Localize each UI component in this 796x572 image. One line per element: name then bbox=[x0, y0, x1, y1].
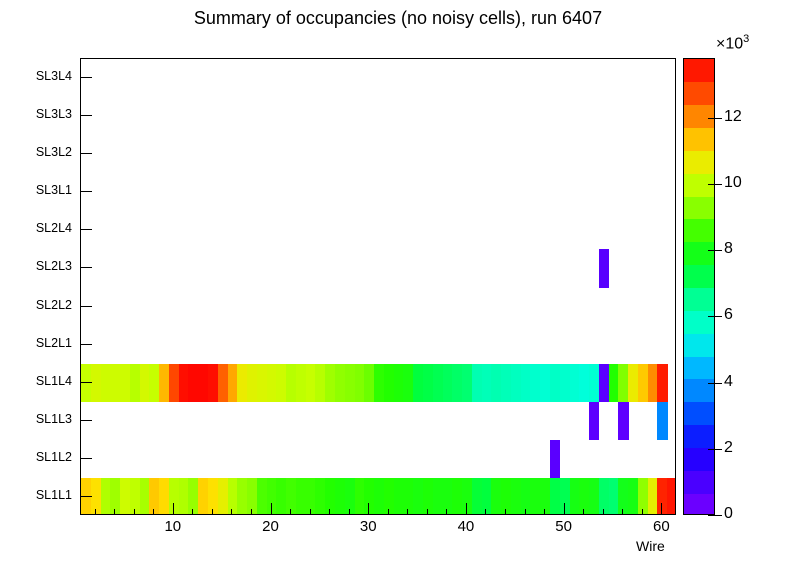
heatmap-cell bbox=[101, 478, 111, 514]
heatmap-cell bbox=[315, 478, 325, 514]
color-scale-band bbox=[684, 242, 714, 265]
heatmap-cell bbox=[179, 364, 189, 403]
x-axis-minor-tick bbox=[310, 509, 311, 515]
x-axis-minor-tick bbox=[134, 509, 135, 515]
heatmap-cell bbox=[374, 364, 384, 403]
heatmap-cell bbox=[179, 478, 189, 514]
heatmap-cell bbox=[149, 478, 159, 514]
heatmap-cell bbox=[413, 364, 423, 403]
heatmap-cell bbox=[521, 364, 531, 403]
y-axis-tick bbox=[80, 420, 92, 421]
y-axis-tick bbox=[80, 344, 92, 345]
heatmap-cell bbox=[550, 440, 560, 479]
x-axis-tick bbox=[368, 503, 369, 515]
heatmap-cell bbox=[599, 478, 609, 514]
heatmap-cell bbox=[462, 478, 472, 514]
color-scale-label-6: 6 bbox=[724, 306, 733, 324]
color-scale-label-2: 2 bbox=[724, 439, 733, 457]
heatmap-cell bbox=[325, 478, 335, 514]
heatmap-cell bbox=[81, 364, 91, 403]
x-axis-minor-tick bbox=[251, 509, 252, 515]
color-scale-bar bbox=[683, 58, 715, 515]
color-scale-label-10: 10 bbox=[724, 174, 742, 192]
heatmap-cell bbox=[364, 364, 374, 403]
color-scale-band bbox=[684, 105, 714, 128]
heatmap-cell bbox=[433, 364, 443, 403]
x-axis-tick bbox=[661, 503, 662, 515]
y-axis-label-sl3l2: SL3L2 bbox=[0, 145, 72, 159]
color-scale-band bbox=[684, 310, 714, 333]
heatmap-cell bbox=[403, 364, 413, 403]
heatmap-cell bbox=[198, 364, 208, 403]
heatmap-cell bbox=[657, 478, 667, 514]
heatmap-cell bbox=[120, 364, 130, 403]
plot-area bbox=[80, 58, 676, 515]
x-axis-tick bbox=[271, 503, 272, 515]
heatmap-cell bbox=[169, 478, 179, 514]
x-axis-tick bbox=[564, 503, 565, 515]
heatmap-cell bbox=[110, 478, 120, 514]
y-axis-tick bbox=[80, 382, 92, 383]
y-axis-label-sl1l1: SL1L1 bbox=[0, 488, 72, 502]
y-axis-label-sl2l3: SL2L3 bbox=[0, 259, 72, 273]
y-axis-tick bbox=[80, 153, 92, 154]
heatmap-cell bbox=[589, 364, 599, 403]
color-scale-tick bbox=[708, 316, 722, 317]
color-scale-band bbox=[684, 128, 714, 151]
heatmap-cell bbox=[648, 478, 658, 514]
color-scale-band bbox=[684, 173, 714, 196]
heatmap-cell bbox=[530, 478, 540, 514]
heatmap-cell bbox=[628, 478, 638, 514]
color-scale-tick bbox=[708, 118, 722, 119]
heatmap-cell bbox=[423, 478, 433, 514]
page-title: Summary of occupancies (no noisy cells),… bbox=[0, 8, 796, 29]
heatmap-cell bbox=[618, 364, 628, 403]
heatmap-cell bbox=[511, 364, 521, 403]
color-scale-band bbox=[684, 470, 714, 493]
heatmap-cell bbox=[91, 364, 101, 403]
x-axis-minor-tick bbox=[485, 509, 486, 515]
color-scale-tick bbox=[708, 515, 722, 516]
heatmap-cell bbox=[218, 478, 228, 514]
heatmap-cell bbox=[609, 364, 619, 403]
heatmap-cell bbox=[657, 402, 667, 441]
heatmap-cell bbox=[306, 478, 316, 514]
heatmap-cell bbox=[550, 478, 560, 514]
heatmap-cell bbox=[247, 478, 257, 514]
heatmap-cell bbox=[218, 364, 228, 403]
heatmap-cell bbox=[638, 478, 648, 514]
heatmap-cell bbox=[374, 478, 384, 514]
heatmap-cell bbox=[140, 364, 150, 403]
color-scale-tick bbox=[708, 184, 722, 185]
color-scale-band bbox=[684, 493, 714, 515]
heatmap-cell bbox=[228, 364, 238, 403]
y-axis-tick bbox=[80, 306, 92, 307]
heatmap-cell bbox=[472, 478, 482, 514]
heatmap-cell bbox=[560, 478, 570, 514]
color-scale-band bbox=[684, 219, 714, 242]
heatmap-cell bbox=[394, 478, 404, 514]
heatmap-cell bbox=[208, 478, 218, 514]
heatmap-cell bbox=[452, 478, 462, 514]
heatmap-cell bbox=[540, 478, 550, 514]
x-axis-minor-tick bbox=[642, 509, 643, 515]
color-scale-label-0: 0 bbox=[724, 505, 733, 523]
x-axis-tick bbox=[173, 503, 174, 515]
heatmap-cell bbox=[472, 364, 482, 403]
heatmap-cell bbox=[501, 364, 511, 403]
heatmap-cell bbox=[579, 364, 589, 403]
color-scale-band bbox=[684, 82, 714, 105]
heatmap-cell bbox=[276, 478, 286, 514]
y-axis-label-sl2l2: SL2L2 bbox=[0, 298, 72, 312]
color-scale-label-4: 4 bbox=[724, 373, 733, 391]
color-scale-label-12: 12 bbox=[724, 108, 742, 126]
x-axis-minor-tick bbox=[446, 509, 447, 515]
heatmap-cell bbox=[345, 364, 355, 403]
heatmap-cell bbox=[335, 478, 345, 514]
heatmap-cell bbox=[384, 478, 394, 514]
heatmap-cell bbox=[433, 478, 443, 514]
heatmap-cell bbox=[482, 364, 492, 403]
heatmap-cell bbox=[315, 364, 325, 403]
x-axis-minor-tick bbox=[525, 509, 526, 515]
heatmap-cell bbox=[462, 364, 472, 403]
heatmap-cell bbox=[325, 364, 335, 403]
color-scale-band bbox=[684, 447, 714, 470]
heatmap-cell bbox=[521, 478, 531, 514]
heatmap-cell bbox=[159, 478, 169, 514]
color-scale-band bbox=[684, 333, 714, 356]
y-axis-label-sl1l2: SL1L2 bbox=[0, 450, 72, 464]
heatmap-cell bbox=[491, 478, 501, 514]
heatmap-cell bbox=[403, 478, 413, 514]
heatmap-cell bbox=[237, 478, 247, 514]
x-axis-label-30: 30 bbox=[343, 518, 393, 535]
heatmap-cell bbox=[91, 478, 101, 514]
heatmap-cell bbox=[560, 364, 570, 403]
heatmap-cell bbox=[394, 364, 404, 403]
color-scale-band bbox=[684, 402, 714, 425]
heatmap-cell bbox=[188, 478, 198, 514]
y-axis-label-sl2l1: SL2L1 bbox=[0, 336, 72, 350]
x-axis-minor-tick bbox=[192, 509, 193, 515]
heatmap-cell bbox=[296, 478, 306, 514]
heatmap-cell bbox=[198, 478, 208, 514]
y-axis-tick bbox=[80, 77, 92, 78]
color-scale-exponent-base: ×10 bbox=[716, 35, 743, 52]
x-axis-minor-tick bbox=[290, 509, 291, 515]
x-axis-label-10: 10 bbox=[148, 518, 198, 535]
heatmap-cell bbox=[501, 478, 511, 514]
x-axis-minor-tick bbox=[349, 509, 350, 515]
heatmap-cell bbox=[267, 364, 277, 403]
y-axis-tick bbox=[80, 115, 92, 116]
heatmap-cell bbox=[355, 478, 365, 514]
color-scale-band bbox=[684, 425, 714, 448]
heatmap-cell bbox=[530, 364, 540, 403]
y-axis-label-sl2l4: SL2L4 bbox=[0, 221, 72, 235]
color-scale-band bbox=[684, 150, 714, 173]
x-axis-minor-tick bbox=[114, 509, 115, 515]
heatmap-cell bbox=[306, 364, 316, 403]
heatmap-cell bbox=[570, 478, 580, 514]
x-axis-label-40: 40 bbox=[441, 518, 491, 535]
x-axis-label-20: 20 bbox=[246, 518, 296, 535]
heatmap-cell bbox=[589, 402, 599, 441]
heatmap-cell bbox=[452, 364, 462, 403]
color-scale-tick bbox=[708, 250, 722, 251]
color-scale-exponent: ×103 bbox=[716, 33, 749, 53]
heatmap-cell bbox=[638, 364, 648, 403]
heatmap-cell bbox=[355, 364, 365, 403]
heatmap-cell bbox=[335, 364, 345, 403]
x-axis-label-50: 50 bbox=[539, 518, 589, 535]
heatmap-cell bbox=[628, 364, 638, 403]
heatmap-cell bbox=[443, 478, 453, 514]
x-axis-minor-tick bbox=[427, 509, 428, 515]
heatmap-cell bbox=[159, 364, 169, 403]
heatmap-cell bbox=[648, 364, 658, 403]
heatmap-cell bbox=[609, 478, 619, 514]
heatmap-cell bbox=[267, 478, 277, 514]
x-axis-label-60: 60 bbox=[636, 518, 686, 535]
color-scale-tick bbox=[708, 449, 722, 450]
heatmap-cell bbox=[618, 478, 628, 514]
x-axis-minor-tick bbox=[505, 509, 506, 515]
heatmap-cell bbox=[345, 478, 355, 514]
y-axis-tick bbox=[80, 229, 92, 230]
heatmap-cell bbox=[657, 364, 667, 403]
color-scale-band bbox=[684, 265, 714, 288]
heatmap-cell bbox=[110, 364, 120, 403]
color-scale-band bbox=[684, 288, 714, 311]
y-axis-label-sl3l4: SL3L4 bbox=[0, 69, 72, 83]
color-scale-band bbox=[684, 59, 714, 82]
heatmap-cell bbox=[482, 478, 492, 514]
heatmap-cell bbox=[364, 478, 374, 514]
heatmap-cell bbox=[286, 478, 296, 514]
color-scale-label-8: 8 bbox=[724, 240, 733, 258]
heatmap-cell bbox=[667, 478, 675, 514]
y-axis-label-sl1l3: SL1L3 bbox=[0, 412, 72, 426]
heatmap-cell bbox=[423, 364, 433, 403]
x-axis-minor-tick bbox=[603, 509, 604, 515]
heatmap-cell bbox=[599, 364, 609, 403]
x-axis-minor-tick bbox=[388, 509, 389, 515]
heatmap-cell bbox=[169, 364, 179, 403]
heatmap-cell bbox=[570, 364, 580, 403]
heatmap-cell bbox=[130, 364, 140, 403]
y-axis-label-sl3l3: SL3L3 bbox=[0, 107, 72, 121]
heatmap-cell bbox=[384, 364, 394, 403]
heatmap-cell bbox=[257, 364, 267, 403]
y-axis-tick bbox=[80, 191, 92, 192]
x-axis-tick bbox=[466, 503, 467, 515]
x-axis-minor-tick bbox=[407, 509, 408, 515]
x-axis-minor-tick bbox=[212, 509, 213, 515]
heatmap-cell bbox=[257, 478, 267, 514]
color-scale-exponent-power: 3 bbox=[743, 33, 749, 45]
heatmap-cell bbox=[589, 478, 599, 514]
x-axis-title: Wire bbox=[636, 538, 665, 554]
x-axis-minor-tick bbox=[231, 509, 232, 515]
x-axis-minor-tick bbox=[153, 509, 154, 515]
y-axis-tick bbox=[80, 458, 92, 459]
x-axis-minor-tick bbox=[95, 509, 96, 515]
heatmap-cell bbox=[247, 364, 257, 403]
heatmap-cell bbox=[413, 478, 423, 514]
y-axis-label-sl1l4: SL1L4 bbox=[0, 374, 72, 388]
heatmap-cell bbox=[208, 364, 218, 403]
chart-canvas: Summary of occupancies (no noisy cells),… bbox=[0, 0, 796, 572]
heatmap-cell bbox=[550, 364, 560, 403]
heatmap-cell bbox=[130, 478, 140, 514]
y-axis-tick bbox=[80, 267, 92, 268]
heatmap-cell bbox=[149, 364, 159, 403]
y-axis-tick bbox=[80, 496, 92, 497]
heatmap-cell bbox=[599, 249, 609, 288]
heatmap-cell bbox=[188, 364, 198, 403]
color-scale-band bbox=[684, 196, 714, 219]
heatmap-cell bbox=[101, 364, 111, 403]
heatmap-cell bbox=[296, 364, 306, 403]
heatmap-cell bbox=[228, 478, 238, 514]
x-axis-minor-tick bbox=[544, 509, 545, 515]
heatmap-cell bbox=[120, 478, 130, 514]
heatmap-cell bbox=[540, 364, 550, 403]
heatmap-cell bbox=[618, 402, 628, 441]
heatmap-cell bbox=[511, 478, 521, 514]
x-axis-minor-tick bbox=[329, 509, 330, 515]
y-axis-label-sl3l1: SL3L1 bbox=[0, 183, 72, 197]
heatmap-cell bbox=[443, 364, 453, 403]
heatmap-cell bbox=[491, 364, 501, 403]
heatmap-cell bbox=[276, 364, 286, 403]
x-axis-minor-tick bbox=[583, 509, 584, 515]
x-axis-minor-tick bbox=[622, 509, 623, 515]
heatmap-cell bbox=[579, 478, 589, 514]
color-scale-tick bbox=[708, 383, 722, 384]
color-scale-band bbox=[684, 356, 714, 379]
heatmap-cell bbox=[286, 364, 296, 403]
heatmap-cells bbox=[81, 59, 675, 514]
heatmap-cell bbox=[237, 364, 247, 403]
heatmap-cell bbox=[140, 478, 150, 514]
